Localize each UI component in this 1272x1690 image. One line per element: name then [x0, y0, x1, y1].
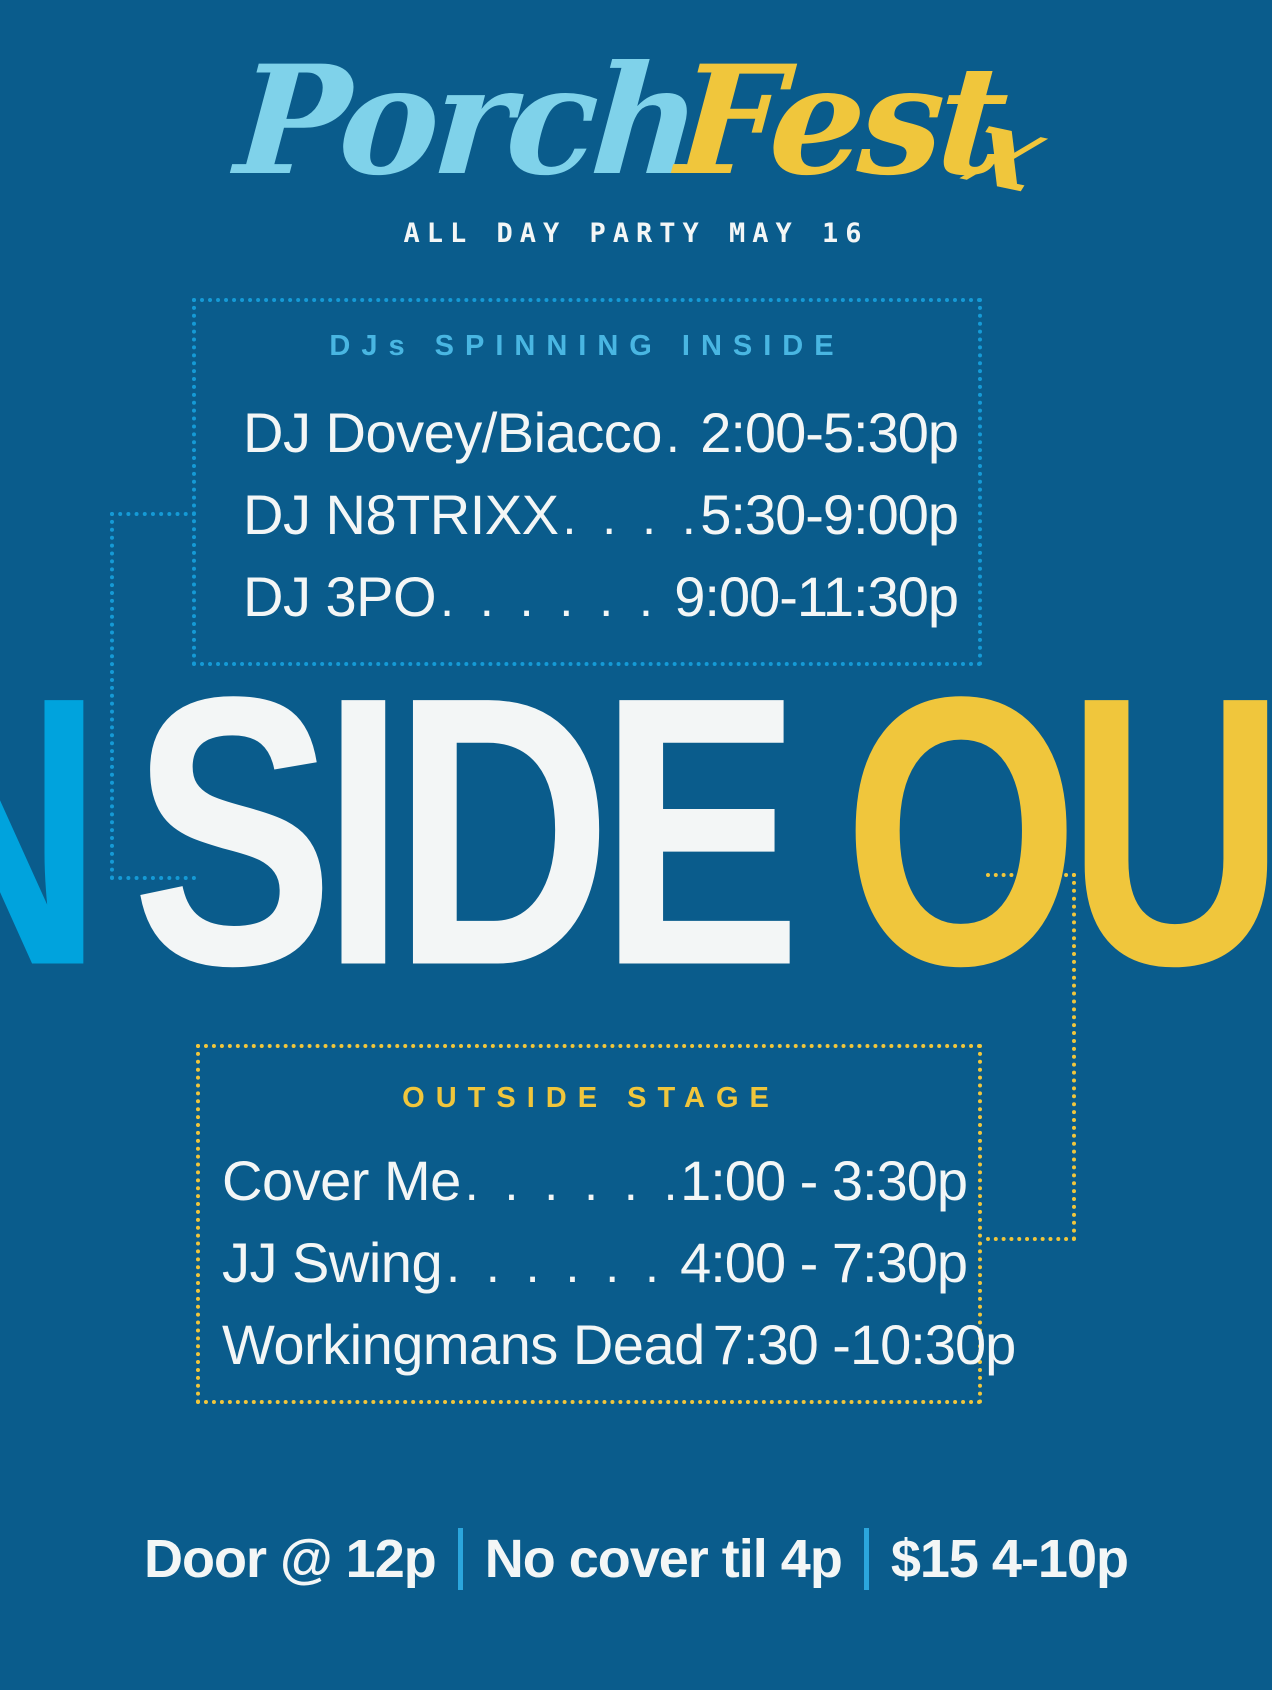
inside-section-heading: DJs SPINNING INSIDE [192, 330, 982, 363]
footer-door-time: Door @ 12p [122, 1528, 458, 1590]
porchfest-logo: PorchFestx [0, 46, 1272, 196]
dot-leader: . . . . . . . . [559, 481, 701, 554]
dot-leader: . . . . . . . . . . . . [442, 1229, 680, 1302]
act-time: 1:00 - 3:30p [680, 1140, 967, 1222]
act-time: 4:00 - 7:30p [680, 1222, 967, 1304]
schedule-row: JJ Swing . . . . . . . . . . . . 4:00 - … [222, 1222, 967, 1304]
logo-word-porch: Porch [232, 46, 701, 196]
schedule-row: DJ Dovey/Biacco . . . . 2:00-5:30p [243, 392, 958, 474]
act-time: 2:00-5:30p [700, 392, 958, 474]
outside-schedule-list: Cover Me . . . . . . . . . . . . . 1:00 … [222, 1140, 967, 1385]
act-time: 7:30 -10:30p [713, 1304, 1015, 1386]
footer-info-bar: Door @ 12p No cover til 4p $15 4-10p [0, 1528, 1272, 1590]
footer-no-cover: No cover til 4p [463, 1528, 864, 1590]
inside-schedule-list: DJ Dovey/Biacco . . . . 2:00-5:30p DJ N8… [243, 392, 958, 637]
footer-price: $15 4-10p [869, 1528, 1150, 1590]
act-name: DJ Dovey/Biacco [243, 392, 662, 474]
act-name: Cover Me [222, 1140, 461, 1222]
schedule-row: Workingmans Dead . . 7:30 -10:30p [222, 1304, 967, 1386]
insideout-wordmark: INSIDEOUT [178, 718, 1094, 989]
dot-leader: . . [705, 1311, 713, 1384]
act-time: 5:30-9:00p [700, 474, 958, 556]
logo-word-fest: Fest [672, 46, 1006, 196]
act-name: DJ N8TRIXX [243, 474, 559, 556]
act-name: JJ Swing [222, 1222, 442, 1304]
schedule-row: Cover Me . . . . . . . . . . . . . 1:00 … [222, 1140, 967, 1222]
act-name: Workingmans Dead [222, 1304, 705, 1386]
wordmark-side: SIDE [131, 675, 788, 989]
logo-tagline: ALL DAY PARTY MAY 16 [0, 218, 1272, 249]
dot-leader: . . . . [662, 399, 700, 472]
schedule-row: DJ N8TRIXX . . . . . . . . 5:30-9:00p [243, 474, 958, 556]
outside-section-heading: OUTSIDE STAGE [196, 1082, 986, 1115]
wordmark-out: OUT [843, 675, 1272, 989]
wordmark-in: IN [0, 675, 91, 989]
dot-leader: . . . . . . . . . . . . . [461, 1147, 680, 1220]
